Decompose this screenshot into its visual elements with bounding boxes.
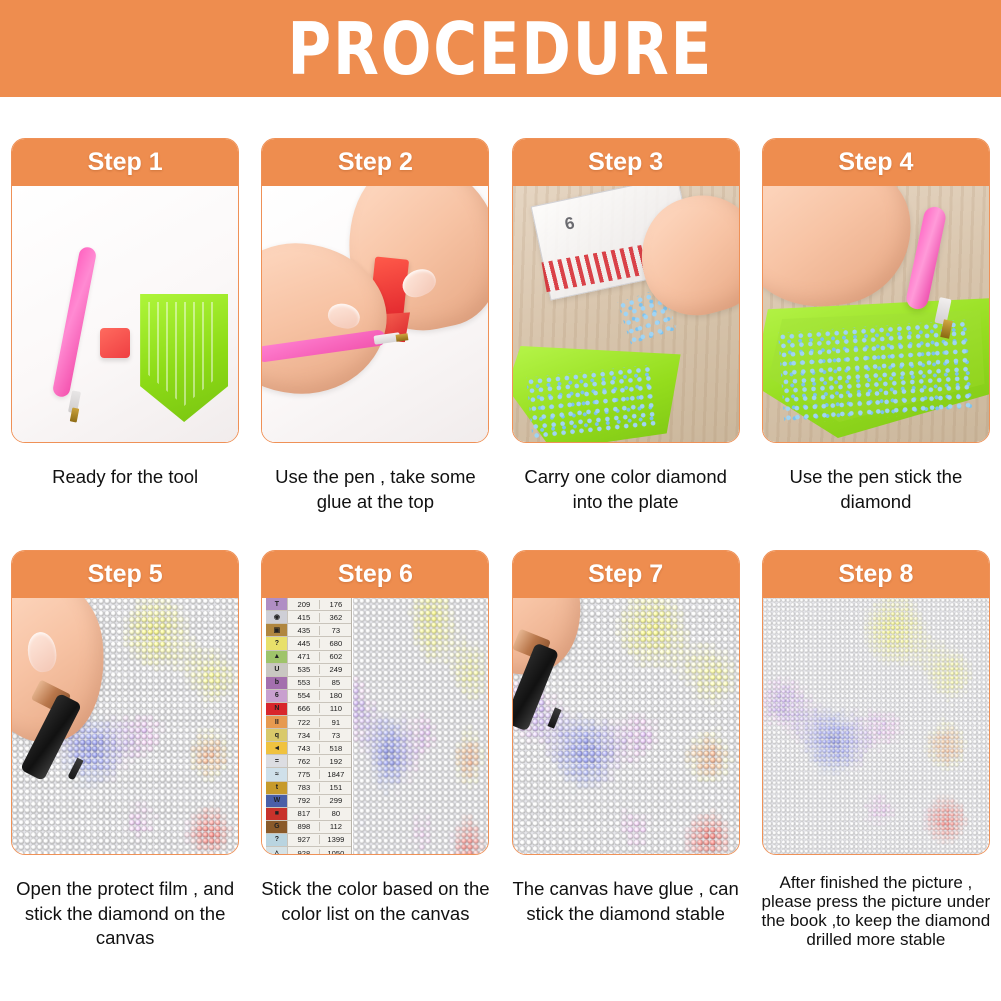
step-3-card: Step 3 6 <box>512 138 740 443</box>
color-code: 792 <box>288 796 320 805</box>
step-2-caption: Use the pen , take some glue at the top <box>257 465 493 514</box>
step-1-header: Step 1 <box>12 139 238 186</box>
step-card-5: Step 5 <box>0 550 250 951</box>
step-card-6: Step 6 T209176◉415362▣43573?445680▲47160… <box>250 550 500 951</box>
step-card-8: Step 8 After finished the picture , plea… <box>751 550 1001 951</box>
step-1-caption: Ready for the tool <box>7 465 243 490</box>
color-count: 249 <box>320 665 351 674</box>
color-code: 743 <box>288 744 320 753</box>
color-count: 1399 <box>320 835 351 844</box>
color-symbol-swatch: ? <box>266 637 288 649</box>
glue-pickup-photo <box>262 186 488 442</box>
color-list-row: ?445680 <box>266 637 351 650</box>
step-1-image <box>12 186 238 442</box>
step-3-header-label: Step 3 <box>588 150 663 175</box>
step-card-3: Step 3 6 Carry one c <box>501 138 751 514</box>
color-symbol-swatch: ◉ <box>266 611 288 623</box>
step-8-card: Step 8 <box>762 550 990 855</box>
color-code: 209 <box>288 600 320 609</box>
pick-diamond-photo <box>763 186 989 442</box>
step-5-header: Step 5 <box>12 551 238 598</box>
step-card-7: Step 7 The canvas <box>501 550 751 951</box>
pen-gold-tip-icon <box>396 333 409 342</box>
color-symbol-swatch: ▣ <box>266 624 288 636</box>
color-code: 666 <box>288 704 320 713</box>
color-count: 73 <box>320 626 351 635</box>
step-2-header: Step 2 <box>262 139 488 186</box>
color-list-row: b55385 <box>266 677 351 690</box>
step-5-card: Step 5 <box>11 550 239 855</box>
color-symbol-swatch: b <box>266 677 288 689</box>
step-7-caption: The canvas have glue , can stick the dia… <box>508 877 744 926</box>
color-symbol-swatch: T <box>266 598 288 610</box>
color-symbol-swatch: 6 <box>266 690 288 702</box>
color-list-row: W792299 <box>266 795 351 808</box>
color-list-row: △9281050 <box>266 847 351 854</box>
color-code: 471 <box>288 652 320 661</box>
color-code: 734 <box>288 731 320 740</box>
step-2-card: Step 2 <box>261 138 489 443</box>
color-list-row: ▣43573 <box>266 624 351 637</box>
color-list-row: II72291 <box>266 716 351 729</box>
step-8-header-label: Step 8 <box>838 562 913 587</box>
color-count: 110 <box>320 704 351 713</box>
page-title: PROCEDURE <box>288 13 714 85</box>
step-2-header-label: Step 2 <box>338 150 413 175</box>
color-code: 817 <box>288 809 320 818</box>
color-count: 91 <box>320 718 351 727</box>
color-count: 602 <box>320 652 351 661</box>
color-count: 1050 <box>320 849 351 855</box>
color-list-row: G898112 <box>266 821 351 834</box>
color-code: 415 <box>288 613 320 622</box>
canvas-photo <box>12 598 238 854</box>
finished-picture-photo <box>763 598 989 854</box>
step-5-image <box>12 598 238 854</box>
color-code: 445 <box>288 639 320 648</box>
color-count: 73 <box>320 731 351 740</box>
color-count: 192 <box>320 757 351 766</box>
color-count: 518 <box>320 744 351 753</box>
color-count: 151 <box>320 783 351 792</box>
color-symbol-swatch: W <box>266 795 288 807</box>
step-3-header: Step 3 <box>513 139 739 186</box>
step-3-image: 6 <box>513 186 739 442</box>
color-list-row: 6554180 <box>266 690 351 703</box>
color-symbol-swatch: ◄ <box>266 742 288 754</box>
color-code: 775 <box>288 770 320 779</box>
color-list-photo: T209176◉415362▣43573?445680▲471602U53524… <box>262 598 488 854</box>
step-2-image <box>262 186 488 442</box>
step-card-1: Step 1 Ready for the tool <box>0 138 250 514</box>
color-list-row: t783151 <box>266 782 351 795</box>
step-6-caption: Stick the color based on the color list … <box>257 877 493 926</box>
procedure-infographic: PROCEDURE Step 1 <box>0 0 1001 1001</box>
color-code: 762 <box>288 757 320 766</box>
color-symbol-swatch: ≈ <box>266 768 288 780</box>
glue-canvas-photo <box>513 598 739 854</box>
diamond-mosaic <box>763 598 989 854</box>
color-code: 783 <box>288 783 320 792</box>
color-symbol-swatch: = <box>266 755 288 767</box>
step-card-2: Step 2 <box>250 138 500 514</box>
step-7-header: Step 7 <box>513 551 739 598</box>
step-1-card: Step 1 <box>11 138 239 443</box>
color-list-row: ◉415362 <box>266 611 351 624</box>
color-list-row: U535249 <box>266 664 351 677</box>
step-7-image <box>513 598 739 854</box>
tools-photo <box>12 186 238 442</box>
steps-row-top: Step 1 Ready for the tool <box>0 97 1001 514</box>
color-count: 112 <box>320 822 351 831</box>
color-code: 928 <box>288 849 320 855</box>
step-6-header-label: Step 6 <box>338 562 413 587</box>
glue-square-icon <box>100 328 130 358</box>
pen-gold-tip-icon <box>70 407 80 422</box>
color-symbol-swatch: ? <box>266 834 288 846</box>
color-symbol-swatch: II <box>266 716 288 728</box>
color-code: 927 <box>288 835 320 844</box>
color-list-row: ◄743518 <box>266 742 351 755</box>
color-count: 680 <box>320 639 351 648</box>
color-list-row: ?9271399 <box>266 834 351 847</box>
color-code: 553 <box>288 678 320 687</box>
color-code: 435 <box>288 626 320 635</box>
color-code: 898 <box>288 822 320 831</box>
color-code: 535 <box>288 665 320 674</box>
color-list-row: ≈7751847 <box>266 768 351 781</box>
color-symbol-swatch: ■ <box>266 808 288 820</box>
step-5-header-label: Step 5 <box>88 562 163 587</box>
color-count: 176 <box>320 600 351 609</box>
color-list-row: q73473 <box>266 729 351 742</box>
step-4-header-label: Step 4 <box>838 150 913 175</box>
step-5-caption: Open the protect film , and stick the di… <box>7 877 243 951</box>
step-8-image <box>763 598 989 854</box>
color-list-row: ■81780 <box>266 808 351 821</box>
pink-pen-icon <box>904 205 947 311</box>
step-4-image <box>763 186 989 442</box>
color-symbol-swatch: U <box>266 664 288 676</box>
pour-diamonds-photo: 6 <box>513 186 739 442</box>
color-count: 1847 <box>320 770 351 779</box>
step-3-caption: Carry one color diamond into the plate <box>508 465 744 514</box>
step-8-header: Step 8 <box>763 551 989 598</box>
color-count: 180 <box>320 691 351 700</box>
color-code: 554 <box>288 691 320 700</box>
color-symbol-swatch: ▲ <box>266 651 288 663</box>
color-symbol-swatch: △ <box>266 847 288 854</box>
blue-diamonds <box>526 365 658 440</box>
steps-grid: Step 1 Ready for the tool <box>0 97 1001 951</box>
hand <box>763 186 921 317</box>
color-count: 80 <box>320 809 351 818</box>
steps-row-bottom: Step 5 <box>0 514 1001 951</box>
color-symbol-swatch: q <box>266 729 288 741</box>
color-code: 722 <box>288 718 320 727</box>
color-list-table: T209176◉415362▣43573?445680▲471602U53524… <box>266 598 352 854</box>
step-8-caption: After finished the picture , please pres… <box>754 873 998 949</box>
step-6-image: T209176◉415362▣43573?445680▲471602U53524… <box>262 598 488 854</box>
color-count: 299 <box>320 796 351 805</box>
step-7-header-label: Step 7 <box>588 562 663 587</box>
color-symbol-swatch: t <box>266 782 288 794</box>
color-symbol-swatch: G <box>266 821 288 833</box>
color-count: 362 <box>320 613 351 622</box>
color-symbol-swatch: N <box>266 703 288 715</box>
step-4-caption: Use the pen stick the diamond <box>758 465 994 514</box>
color-list-row: N666110 <box>266 703 351 716</box>
color-list-row: ▲471602 <box>266 651 351 664</box>
step-4-card: Step 4 <box>762 138 990 443</box>
color-list-row: T209176 <box>266 598 351 611</box>
diamond-mosaic <box>353 598 488 854</box>
step-4-header: Step 4 <box>763 139 989 186</box>
step-7-card: Step 7 <box>512 550 740 855</box>
pink-pen-icon <box>52 246 98 398</box>
step-1-header-label: Step 1 <box>88 150 163 175</box>
step-card-4: Step 4 Use the pen <box>751 138 1001 514</box>
page-banner: PROCEDURE <box>0 0 1001 97</box>
step-6-card: Step 6 T209176◉415362▣43573?445680▲47160… <box>261 550 489 855</box>
color-list-row: =762192 <box>266 755 351 768</box>
step-6-header: Step 6 <box>262 551 488 598</box>
color-count: 85 <box>320 678 351 687</box>
